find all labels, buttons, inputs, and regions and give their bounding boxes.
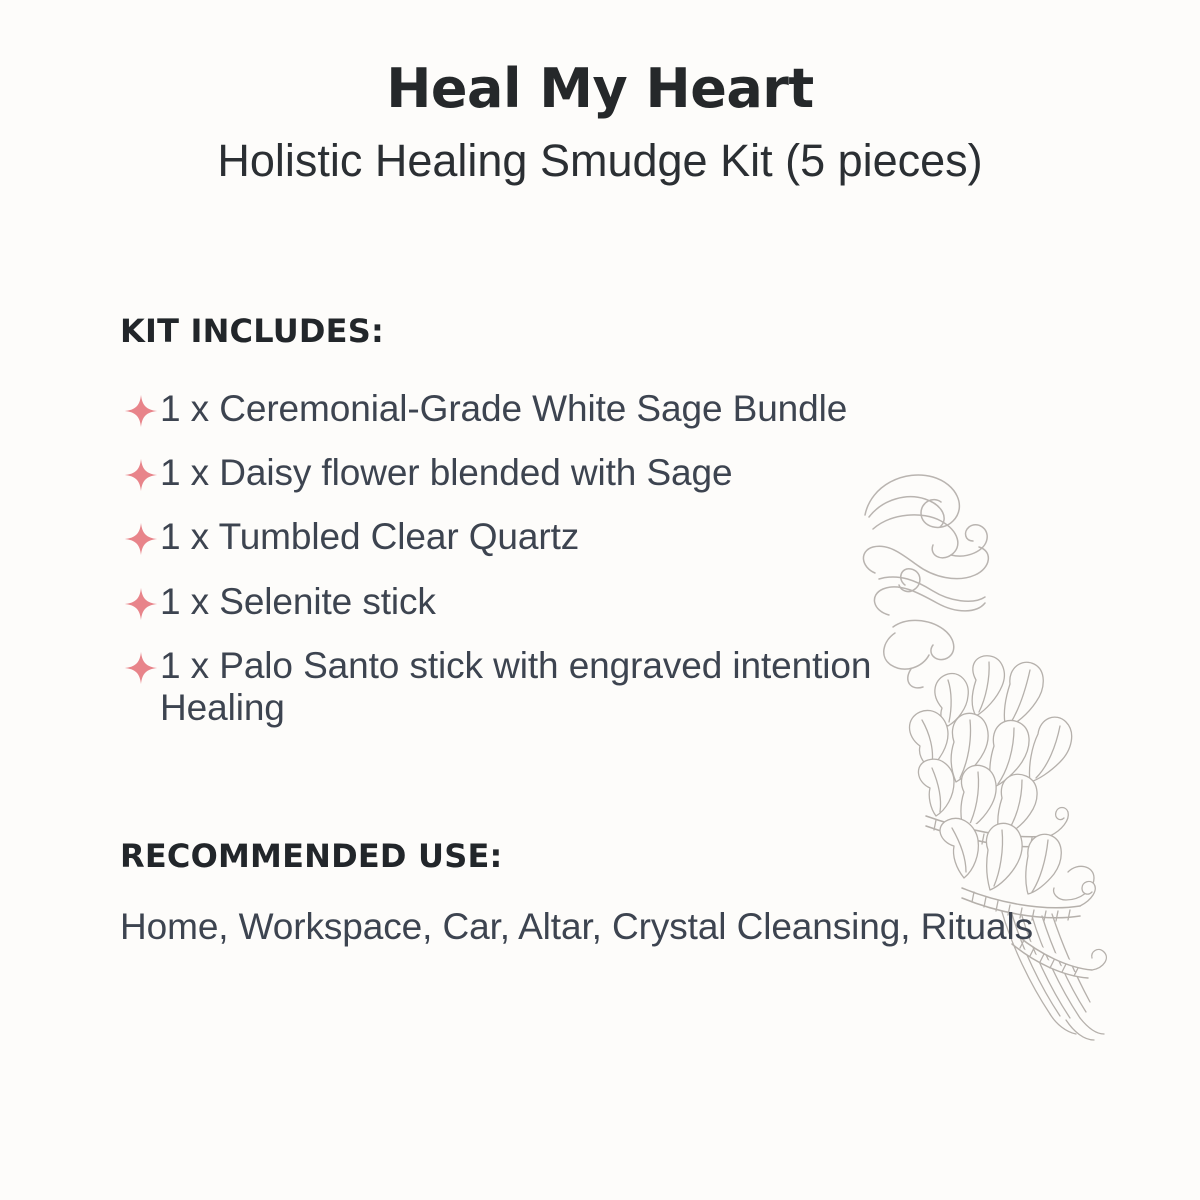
page-subtitle: Holistic Healing Smudge Kit (5 pieces) bbox=[0, 136, 1200, 186]
list-item: 1 x Ceremonial-Grade White Sage Bundle bbox=[120, 388, 1120, 430]
sparkle-icon bbox=[122, 520, 160, 558]
sparkle-icon bbox=[122, 585, 160, 623]
sparkle-icon bbox=[122, 392, 160, 430]
content-area: KIT INCLUDES: 1 x Ceremonial-Grade White… bbox=[120, 312, 1120, 952]
recommended-use-section: RECOMMENDED USE: Home, Workspace, Car, A… bbox=[120, 837, 1120, 952]
product-info-card: Heal My Heart Holistic Healing Smudge Ki… bbox=[0, 0, 1200, 1200]
list-item-label: 1 x Daisy flower blended with Sage bbox=[160, 452, 732, 494]
page-title: Heal My Heart bbox=[0, 62, 1200, 116]
kit-includes-section: KIT INCLUDES: 1 x Ceremonial-Grade White… bbox=[120, 312, 1120, 729]
kit-includes-list: 1 x Ceremonial-Grade White Sage Bundle 1… bbox=[120, 388, 1120, 729]
sparkle-icon bbox=[122, 649, 160, 687]
list-item-label: 1 x Palo Santo stick with engraved inten… bbox=[160, 645, 920, 729]
list-item: 1 x Tumbled Clear Quartz bbox=[120, 516, 1120, 558]
recommended-use-text: Home, Workspace, Car, Altar, Crystal Cle… bbox=[120, 903, 1105, 952]
list-item-label: 1 x Selenite stick bbox=[160, 581, 436, 623]
list-item: 1 x Daisy flower blended with Sage bbox=[120, 452, 1120, 494]
list-item: 1 x Palo Santo stick with engraved inten… bbox=[120, 645, 1120, 729]
recommended-use-heading: RECOMMENDED USE: bbox=[120, 837, 1120, 875]
list-item-label: 1 x Ceremonial-Grade White Sage Bundle bbox=[160, 388, 847, 430]
kit-includes-heading: KIT INCLUDES: bbox=[120, 312, 1120, 350]
list-item: 1 x Selenite stick bbox=[120, 581, 1120, 623]
sparkle-icon bbox=[122, 456, 160, 494]
header: Heal My Heart Holistic Healing Smudge Ki… bbox=[0, 62, 1200, 186]
list-item-label: 1 x Tumbled Clear Quartz bbox=[160, 516, 579, 558]
